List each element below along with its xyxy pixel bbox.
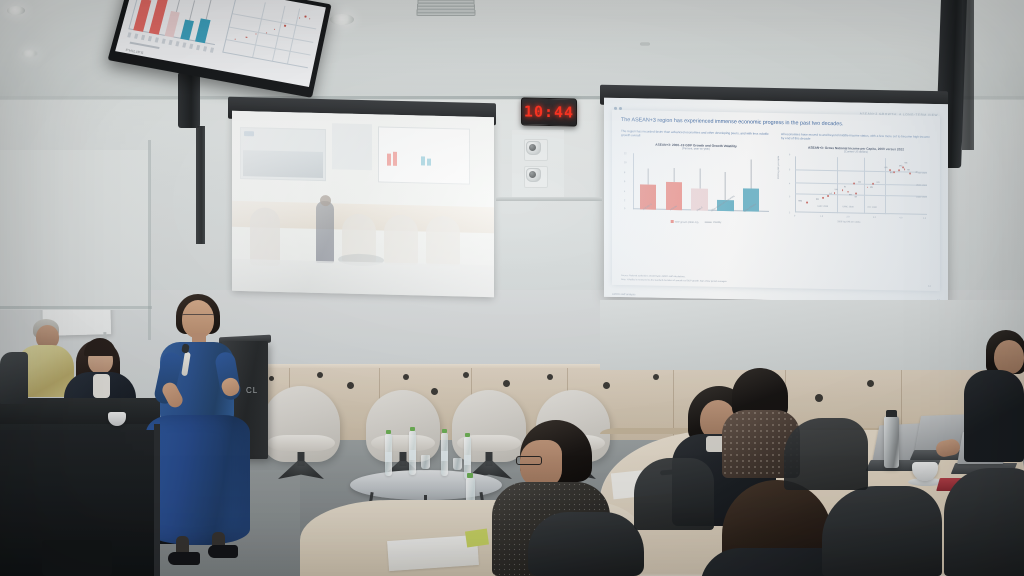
bottle-label xyxy=(409,450,416,460)
scatter-y-axis-label: 2022 log GNI per capita xyxy=(778,156,780,179)
slide-page-number: 12 xyxy=(928,285,931,288)
scatter-point-label: TH xyxy=(854,196,857,198)
credenza-cable-hole xyxy=(463,372,469,378)
credenza-cable-hole xyxy=(603,382,610,389)
center-projection-screen xyxy=(232,111,494,297)
scatter-point-label: MY xyxy=(877,182,880,184)
screen-support-post xyxy=(196,126,205,244)
wall-clock: 10:44 xyxy=(521,97,577,126)
bar-group: ASEAN xyxy=(666,154,682,210)
feed-chair xyxy=(250,207,280,266)
legend-line xyxy=(704,222,711,223)
bar-chart: 12 10 8 6 4 2 0 ASEAN+3 xyxy=(621,151,771,228)
thermos-lid xyxy=(886,410,897,417)
bottle-cap xyxy=(386,430,391,434)
bottle-cap xyxy=(465,433,470,437)
panel-chair xyxy=(0,352,28,404)
ceiling-pillar xyxy=(178,72,200,128)
scatter-y-tick: 2 xyxy=(789,212,790,214)
credenza-cable-hole xyxy=(815,394,823,402)
slide-title: The ASEAN+3 region has experienced immen… xyxy=(621,117,931,130)
scatter-x-tick: 4.0 xyxy=(899,217,902,219)
credenza-cable-hole xyxy=(503,380,510,387)
slide-column-left: The region has recorded faster than adva… xyxy=(621,129,771,228)
scatter-point xyxy=(834,192,836,194)
bar-group: Other EMDEs xyxy=(743,155,759,211)
feed-chair xyxy=(426,216,460,267)
bar-group: ASEAN+3 xyxy=(640,153,656,209)
water-bottle xyxy=(409,431,416,475)
bar-plot-area: 12 10 8 6 4 2 0 ASEAN+3 xyxy=(633,153,769,212)
scatter-y-tick: 4 xyxy=(789,183,790,185)
feed-presenter xyxy=(316,201,334,263)
bar-y-tick: 4 xyxy=(624,191,625,193)
bar-y-tick: 8 xyxy=(624,172,625,174)
bar-y-tick: 10 xyxy=(624,162,627,164)
drinking-glass xyxy=(453,458,462,470)
legend-label: GDP growth (2000–19) xyxy=(675,222,699,224)
scatter-point-label: VN xyxy=(834,189,837,191)
lounge-chair-seat xyxy=(371,435,435,451)
scatter-point xyxy=(893,171,895,173)
scatter-point-label: BN xyxy=(890,173,893,175)
conference-room-photo: PHILIPS xyxy=(0,0,1024,576)
credenza-cable-hole xyxy=(403,374,409,380)
scatter-point xyxy=(822,197,824,199)
slide-card: The ASEAN+3 region has experienced immen… xyxy=(612,110,940,291)
slide-left-subtitle: The region has recorded faster than adva… xyxy=(621,129,771,141)
feed-presenter-head xyxy=(320,195,331,206)
glasses xyxy=(516,456,542,465)
scatter-point xyxy=(872,182,874,184)
paper-sheet xyxy=(387,535,479,571)
scatter-x-tick: 5.0 xyxy=(923,218,926,220)
scatter-point-label: LA xyxy=(829,193,832,195)
wall-panel-left xyxy=(0,150,150,310)
scatter-band-label-umic-2022: UMIC 2022 xyxy=(916,185,927,187)
scatter-x-axis-label: 2000 log GNI per capita xyxy=(837,221,860,223)
desk-leg xyxy=(42,540,112,576)
scatter-point xyxy=(806,201,808,203)
thermos-flask xyxy=(884,416,899,468)
bar-y-tick: 2 xyxy=(624,201,625,203)
lounge-chair xyxy=(262,386,340,462)
scatter-x-tick: 2.0 xyxy=(846,216,849,218)
ceiling-column-right-inner xyxy=(962,0,974,150)
desk-panel-edge xyxy=(154,424,160,576)
presenter-shoe xyxy=(168,552,200,565)
presenter-shoe xyxy=(208,545,238,558)
scatter-point-label: KH xyxy=(816,199,819,201)
bar-y-tick: 0 xyxy=(624,208,625,210)
scatter-threshold-lmic-2000 xyxy=(837,157,838,213)
head xyxy=(994,340,1024,374)
bar-group: Plus-3 xyxy=(691,154,707,210)
credenza-cable-hole xyxy=(547,374,553,380)
bar-errorbar xyxy=(699,169,700,189)
bar-errorbar xyxy=(751,160,752,189)
scatter-point xyxy=(889,169,891,171)
ceiling-downlight xyxy=(22,50,37,57)
wall-edge-left xyxy=(148,140,151,340)
wall-trim-rail xyxy=(496,197,602,201)
upper-wall-right xyxy=(600,300,1024,370)
scatter-band-label-lmic-2000: LMIC 2000 xyxy=(817,206,828,208)
office-chair-back xyxy=(822,486,942,576)
credenza-cable-hole xyxy=(431,388,438,395)
wall-panel-seam xyxy=(0,306,152,309)
scatter-plot-area: 6 5 4 3 2 0 1.0 2.0 3.0 4.0 xyxy=(795,156,927,215)
presenter-glasses xyxy=(182,314,214,320)
scatter-point xyxy=(898,169,900,171)
scatter-point-label: CN xyxy=(858,182,861,184)
scatter-point xyxy=(855,193,857,195)
slide-right-subtitle: All economies have moved to and beyond m… xyxy=(781,132,931,144)
scatter-point xyxy=(909,172,911,174)
blouse xyxy=(93,374,110,398)
ceiling-air-vent xyxy=(640,42,650,45)
scatter-threshold-umic-2000 xyxy=(864,157,865,213)
credenza-cable-hole xyxy=(867,380,874,387)
legend-label: Volatility xyxy=(713,222,721,224)
credenza-cable-hole xyxy=(347,382,354,389)
water-bottle xyxy=(385,434,392,476)
slide-footnotes: Source: National authorities; World Bank… xyxy=(621,275,931,288)
bar-y-tick: 6 xyxy=(624,182,625,184)
legend-item-volatility: Volatility xyxy=(704,222,721,224)
presenter-skirt xyxy=(146,415,250,545)
slide-column-right: All economies have moved to and beyond m… xyxy=(781,132,931,231)
bottle-cap xyxy=(442,429,447,433)
bottle-label xyxy=(441,451,448,461)
sticky-note xyxy=(465,529,489,548)
drinking-glass xyxy=(421,455,430,469)
legend-item-growth: GDP growth (2000–19) xyxy=(671,220,699,224)
clock-time: 10:44 xyxy=(524,102,574,121)
bar-group: Other advanced economies xyxy=(717,155,733,211)
scatter-point-label: MN xyxy=(870,187,873,189)
scatter-point-label: HK xyxy=(907,170,910,172)
scatter-point-label: MM xyxy=(799,201,802,203)
scatter-x-tick: 0 xyxy=(794,215,795,217)
slide-columns: The region has recorded faster than adva… xyxy=(621,129,931,231)
lounge-chair-seat xyxy=(267,435,334,451)
slide: ASEAN+3 GROWTH: A LONG-TERM VIEW The ASE… xyxy=(604,98,948,304)
bar-y-axis xyxy=(633,153,634,209)
scatter-y-tick: 5 xyxy=(789,169,790,171)
feed-inner-screen-right xyxy=(378,126,470,184)
scatter-y-tick: 6 xyxy=(789,154,790,156)
scatter-point xyxy=(827,195,829,197)
scatter-x-tick: 1.0 xyxy=(820,216,823,218)
bar-errorbar xyxy=(648,168,649,184)
scatter-point xyxy=(867,186,869,188)
lectern-logo: CL xyxy=(246,386,258,395)
scatter-point-label: ID xyxy=(844,186,846,188)
scatter-point xyxy=(847,191,849,193)
credenza-cable-hole xyxy=(317,372,323,378)
ceiling-downlight xyxy=(330,14,354,25)
scatter-point xyxy=(853,182,855,184)
presentation-screen: ASEAN+3 GROWTH: A LONG-TERM VIEW The ASE… xyxy=(604,98,948,304)
water-bottle xyxy=(441,433,448,476)
bottle-label xyxy=(464,455,471,465)
torso xyxy=(964,370,1024,462)
scatter-point-label: JP xyxy=(915,172,917,174)
scatter-x-tick: 3.0 xyxy=(873,217,876,219)
legend-swatch xyxy=(671,220,674,223)
feed-chair xyxy=(384,215,418,266)
credenza-cable-hole xyxy=(653,374,659,380)
scatter-band-label-hic-2022: HIC 2022 xyxy=(918,173,927,175)
office-chair-back xyxy=(784,418,868,490)
credenza-cable-hole xyxy=(269,376,274,381)
scatter-point-label: MO xyxy=(899,165,902,167)
scatter-y-tick: 3 xyxy=(789,196,790,198)
scatter-point-label: KR xyxy=(885,167,888,169)
office-chair-back xyxy=(634,458,714,530)
bar-rect xyxy=(666,182,682,210)
scatter-point-label: PH xyxy=(849,194,852,196)
bar-y-tick: 12 xyxy=(624,153,627,155)
bottle-cap xyxy=(467,473,473,478)
ceiling-air-vent xyxy=(416,0,476,16)
feed-inner-pillar xyxy=(332,123,372,170)
ceiling-downlight xyxy=(7,6,25,15)
scatter-chart: 6 5 4 3 2 0 1.0 2.0 3.0 4.0 xyxy=(781,154,931,231)
scatter-point xyxy=(904,168,906,170)
office-chair-back xyxy=(528,512,644,576)
office-chair-back xyxy=(944,468,1024,576)
bar-errorbar xyxy=(725,172,726,200)
camera-column xyxy=(512,130,564,200)
feed-floor xyxy=(232,259,494,297)
scatter-point-label: SG xyxy=(904,163,907,165)
scatter-band-label-lmic-2022: LMIC 2022 xyxy=(916,196,927,198)
lounge-chair xyxy=(366,390,440,462)
bottle-label xyxy=(385,452,392,462)
slide-bottom-left: AMRO staff analysis xyxy=(612,293,635,296)
bar-chart-legend: GDP growth (2000–19) Volatility xyxy=(671,220,722,225)
bar-errorbar xyxy=(673,168,674,182)
scatter-point xyxy=(842,189,844,191)
feed-inner-screen-left xyxy=(240,127,326,181)
scatter-band-label-hic-2000: HIC 2000 xyxy=(868,206,877,208)
scatter-band-label-umic-2000: UMIC 2000 xyxy=(843,206,854,208)
bottle-cap xyxy=(410,427,415,431)
